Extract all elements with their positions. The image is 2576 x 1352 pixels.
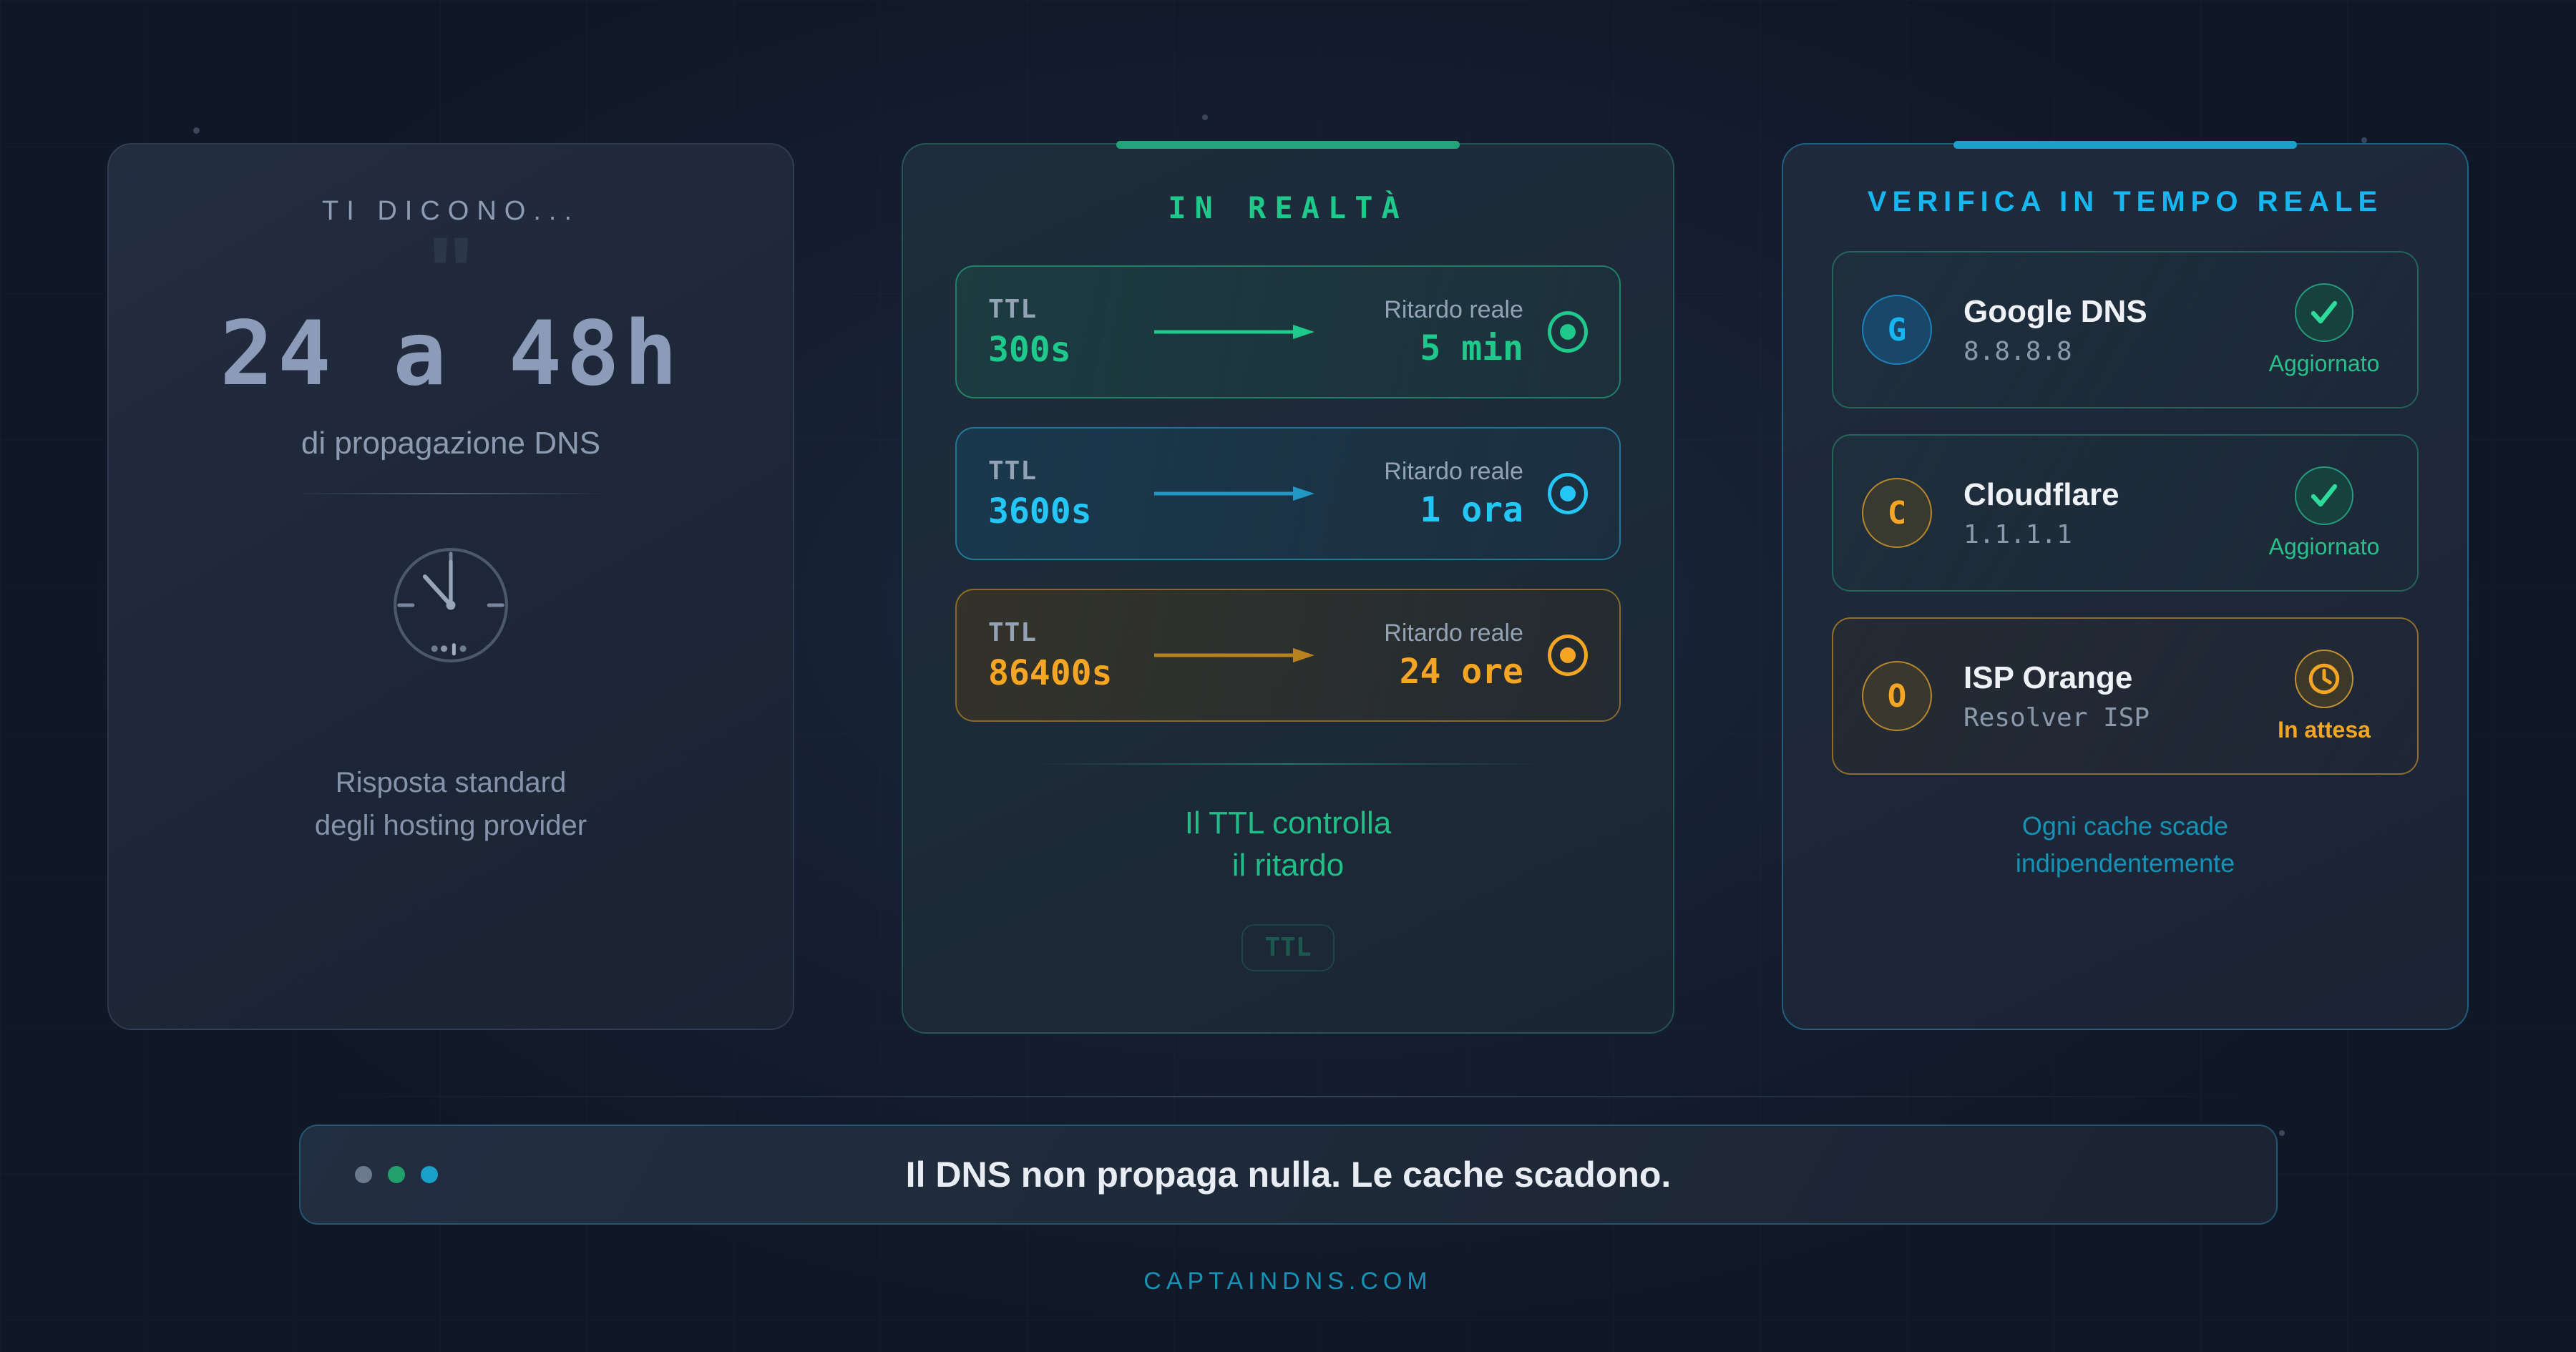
summary-bar: Il DNS non propaga nulla. Le cache scado… <box>299 1125 2278 1225</box>
reality-note-line2: il ritardo <box>1185 844 1392 886</box>
delay-label: Ritardo reale <box>1384 458 1523 486</box>
arrow-right-icon <box>1153 484 1317 503</box>
delay-value: 5 min <box>1420 328 1523 368</box>
myth-caption-line2: degli hosting provider <box>315 804 587 847</box>
resolver-row[interactable]: G Google DNS 8.8.8.8 Aggiornato <box>1832 251 2419 408</box>
myth-subhead: di propagazione DNS <box>301 426 600 461</box>
ttl-left: TTL 86400s <box>988 618 1153 693</box>
ttl-label: TTL <box>988 618 1153 647</box>
delay-value: 24 ore <box>1400 652 1523 692</box>
ttl-value: 3600s <box>988 491 1153 532</box>
arrow-right-icon <box>1153 323 1317 341</box>
resolver-status: Aggiornato <box>2260 466 2389 560</box>
ttl-rows: TTL 300s Ritardo reale 5 min TTL <box>955 265 1621 722</box>
reality-panel: IN REALTÀ TTL 300s Ritardo reale 5 min <box>902 143 1674 1034</box>
ttl-row[interactable]: TTL 3600s Ritardo reale 1 ora <box>955 427 1621 560</box>
myth-panel: TI DICONO... " 24 a 48h di propagazione … <box>107 143 794 1030</box>
resolver-ip: 1.1.1.1 <box>1963 520 2260 549</box>
myth-caption-line1: Risposta standard <box>315 761 587 804</box>
quote-mark-icon: " <box>427 253 474 281</box>
resolver-status: Aggiornato <box>2260 283 2389 377</box>
ttl-badge[interactable]: TTL <box>1241 924 1335 971</box>
live-check-title: VERIFICA IN TEMPO REALE <box>1868 186 2383 218</box>
live-check-accent-bar <box>1953 141 2297 149</box>
delay-value: 1 ora <box>1420 490 1523 530</box>
ttl-right: Ritardo reale 1 ora <box>1317 458 1523 530</box>
check-icon <box>2295 466 2353 525</box>
clock-icon <box>2295 650 2353 708</box>
status-label: Aggiornato <box>2269 351 2380 377</box>
delay-label: Ritardo reale <box>1384 296 1523 324</box>
live-check-panel: VERIFICA IN TEMPO REALE G Google DNS 8.8… <box>1782 143 2469 1030</box>
myth-headline: 24 a 48h <box>220 303 681 406</box>
resolver-name: ISP Orange <box>1963 660 2260 696</box>
reality-title: IN REALTÀ <box>1168 190 1408 225</box>
delay-label: Ritardo reale <box>1384 619 1523 647</box>
ttl-row[interactable]: TTL 300s Ritardo reale 5 min <box>955 265 1621 398</box>
live-check-note-line1: Ogni cache scade <box>2016 808 2235 845</box>
reality-note: Il TTL controlla il ritardo <box>1185 802 1392 887</box>
avatar: C <box>1862 478 1932 548</box>
target-dot-icon <box>1548 473 1588 514</box>
ttl-value: 86400s <box>988 653 1153 693</box>
ttl-left: TTL 300s <box>988 295 1153 370</box>
arrow-right-icon <box>1153 646 1317 665</box>
live-check-note-line2: indipendentemente <box>2016 845 2235 882</box>
myth-divider <box>293 493 608 494</box>
avatar: G <box>1862 295 1932 365</box>
resolver-row[interactable]: C Cloudflare 1.1.1.1 Aggiornato <box>1832 434 2419 592</box>
check-icon <box>2295 283 2353 342</box>
target-dot-icon <box>1548 311 1588 353</box>
status-label: In attesa <box>2278 717 2371 743</box>
resolver-status: In attesa <box>2260 650 2389 743</box>
target-dot-icon <box>1548 635 1588 676</box>
resolver-ip: 8.8.8.8 <box>1963 337 2260 366</box>
resolver-info: ISP Orange Resolver ISP <box>1963 660 2260 733</box>
section-divider <box>322 1096 2254 1097</box>
footer-site[interactable]: CAPTAINDNS.COM <box>0 1268 2576 1295</box>
live-check-note: Ogni cache scade indipendentemente <box>2016 808 2235 882</box>
myth-caption: Risposta standard degli hosting provider <box>315 761 587 847</box>
ttl-label: TTL <box>988 295 1153 324</box>
resolver-name: Google DNS <box>1963 294 2260 330</box>
summary-message: Il DNS non propaga nulla. Le cache scado… <box>301 1154 2276 1195</box>
reality-accent-bar <box>1116 141 1460 149</box>
resolver-info: Google DNS 8.8.8.8 <box>1963 294 2260 366</box>
resolver-list: G Google DNS 8.8.8.8 Aggiornato C <box>1832 251 2419 775</box>
ttl-label: TTL <box>988 456 1153 486</box>
ttl-right: Ritardo reale 5 min <box>1317 296 1523 368</box>
clock-icon <box>383 537 519 677</box>
ttl-row[interactable]: TTL 86400s Ritardo reale 24 ore <box>955 589 1621 722</box>
reality-divider <box>1030 763 1546 765</box>
resolver-ip: Resolver ISP <box>1963 703 2260 733</box>
resolver-info: Cloudflare 1.1.1.1 <box>1963 477 2260 549</box>
ttl-left: TTL 3600s <box>988 456 1153 532</box>
status-label: Aggiornato <box>2269 534 2380 560</box>
resolver-name: Cloudflare <box>1963 477 2260 513</box>
resolver-row[interactable]: O ISP Orange Resolver ISP In attesa <box>1832 617 2419 775</box>
panels-row: TI DICONO... " 24 a 48h di propagazione … <box>107 143 2469 1037</box>
avatar: O <box>1862 661 1932 731</box>
ttl-right: Ritardo reale 24 ore <box>1317 619 1523 692</box>
ttl-value: 300s <box>988 330 1153 370</box>
reality-note-line1: Il TTL controlla <box>1185 802 1392 844</box>
